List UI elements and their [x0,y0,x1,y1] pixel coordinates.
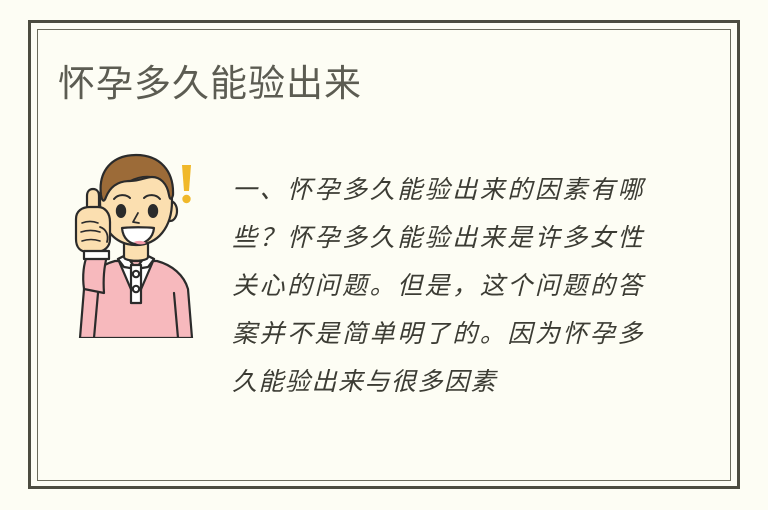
article-card: 怀孕多久能验出来 [0,0,768,510]
page-title: 怀孕多久能验出来 [58,60,362,108]
article-body-paragraph: 一、怀孕多久能验出来的因素有哪些？怀孕多久能验出来是许多女性关心的问题。但是，这… [232,166,644,406]
pointing-person-illustration [60,143,212,338]
article-body: 一、怀孕多久能验出来的因素有哪些？怀孕多久能验出来是许多女性关心的问题。但是，这… [232,166,644,406]
exclamation-mark-icon [182,165,191,203]
